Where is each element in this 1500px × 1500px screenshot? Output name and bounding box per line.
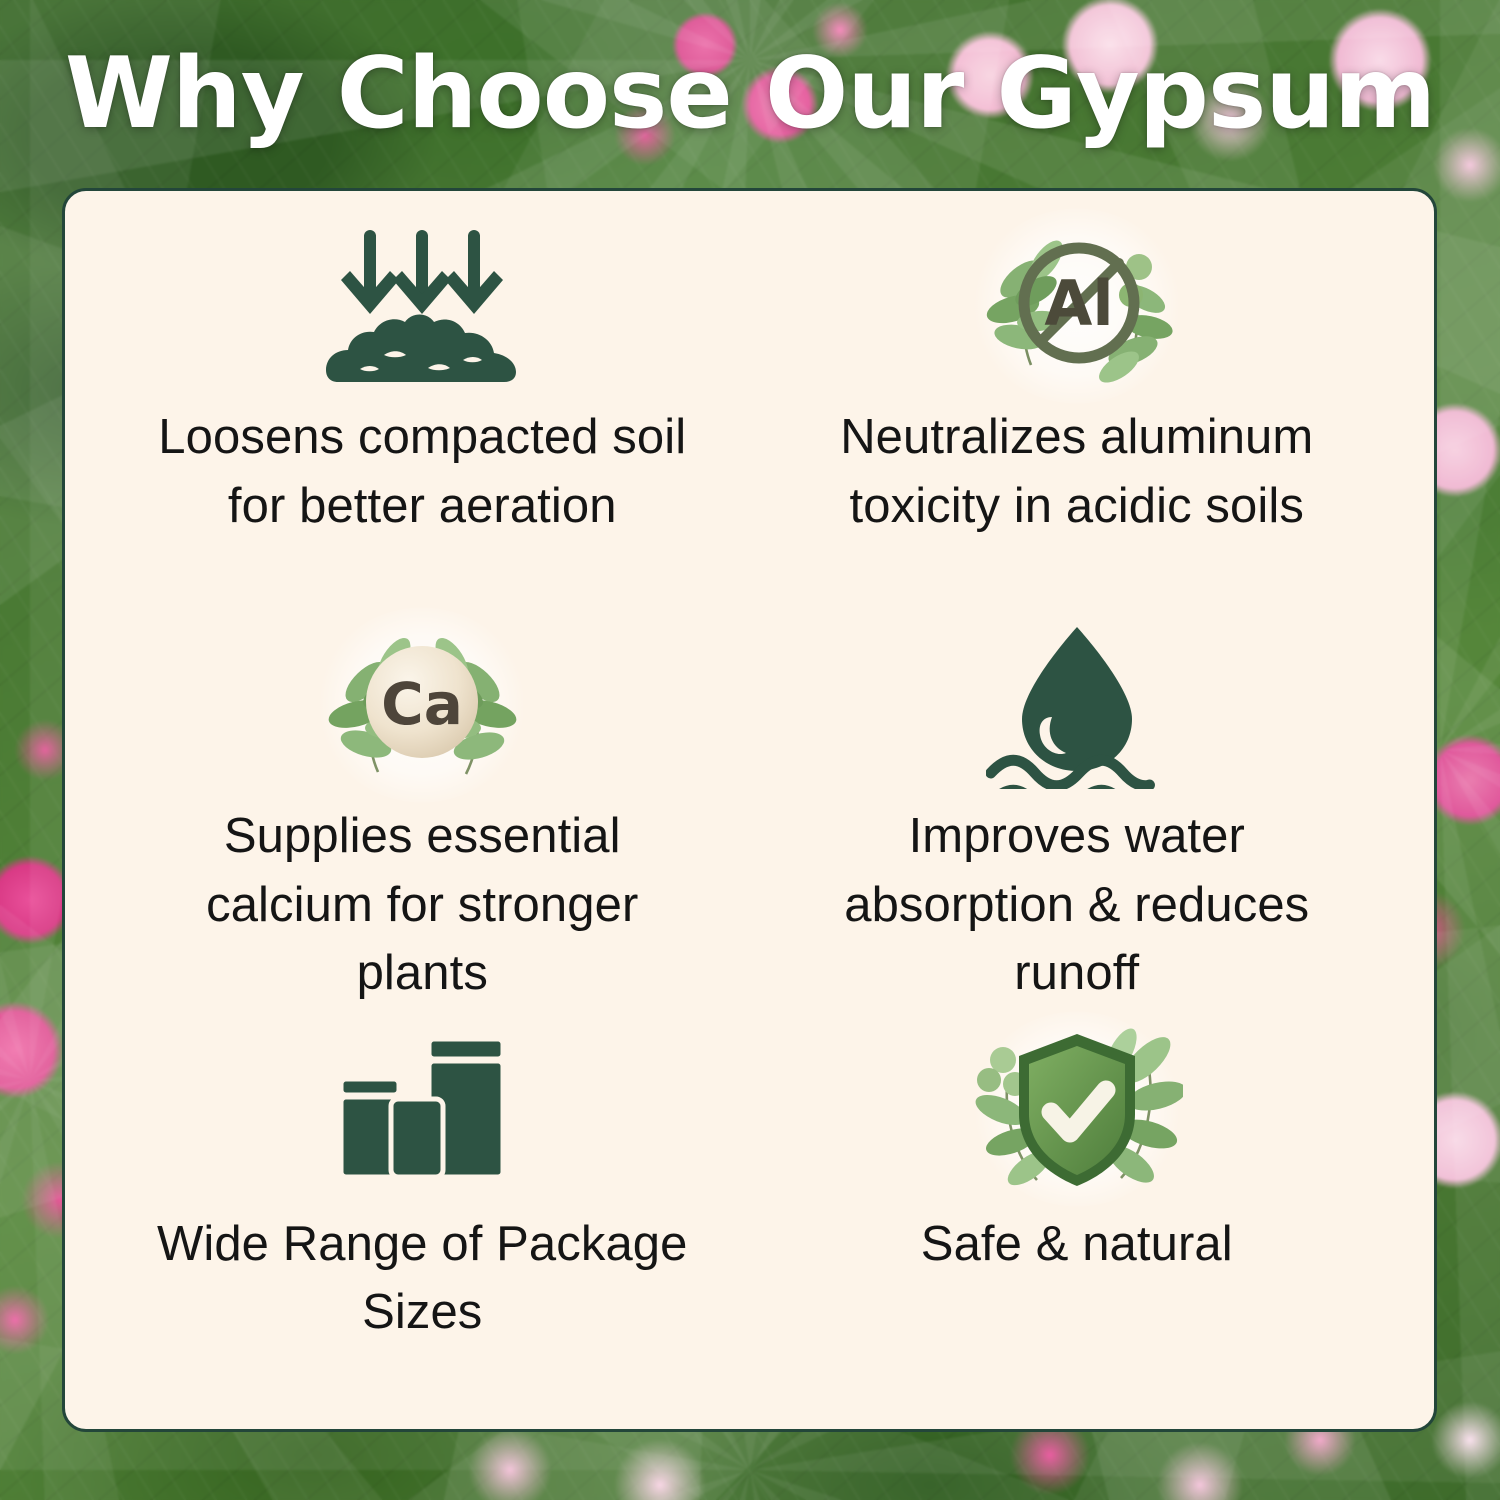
page-title: Why Choose Our Gypsum xyxy=(65,45,1435,143)
benefit-item-package-sizes: Wide Range of Package Sizes xyxy=(95,1008,750,1407)
water-absorption-icon xyxy=(986,616,1168,794)
svg-text:Ca: Ca xyxy=(381,670,463,738)
aluminum-blocked-icon: Al xyxy=(973,217,1181,395)
svg-text:Al: Al xyxy=(1044,267,1113,340)
benefit-item-aluminum: Al Neutralizes aluminum toxicity in acid… xyxy=(750,209,1405,608)
soil-aeration-icon xyxy=(324,217,520,395)
calcium-icon: Ca xyxy=(316,616,528,794)
benefit-text: Improves water absorption & reduces runo… xyxy=(797,802,1357,1008)
benefit-item-water: Improves water absorption & reduces runo… xyxy=(750,608,1405,1008)
benefits-card: Loosens compacted soil for better aerati… xyxy=(62,188,1437,1432)
page-header: Why Choose Our Gypsum xyxy=(0,0,1500,188)
benefit-item-safe-natural: Safe & natural xyxy=(750,1008,1405,1407)
package-sizes-icon xyxy=(333,1016,511,1202)
benefit-text: Wide Range of Package Sizes xyxy=(142,1210,702,1347)
safe-natural-icon xyxy=(971,1016,1183,1202)
benefit-text: Loosens compacted soil for better aerati… xyxy=(142,403,702,540)
benefit-item-calcium: Ca Supplies essential calcium for strong… xyxy=(95,608,750,1008)
benefit-text: Supplies essential calcium for stronger … xyxy=(142,802,702,1008)
benefit-text: Neutralizes aluminum toxicity in acidic … xyxy=(797,403,1357,540)
benefit-text: Safe & natural xyxy=(921,1210,1233,1279)
benefit-item-soil-aeration: Loosens compacted soil for better aerati… xyxy=(95,209,750,608)
